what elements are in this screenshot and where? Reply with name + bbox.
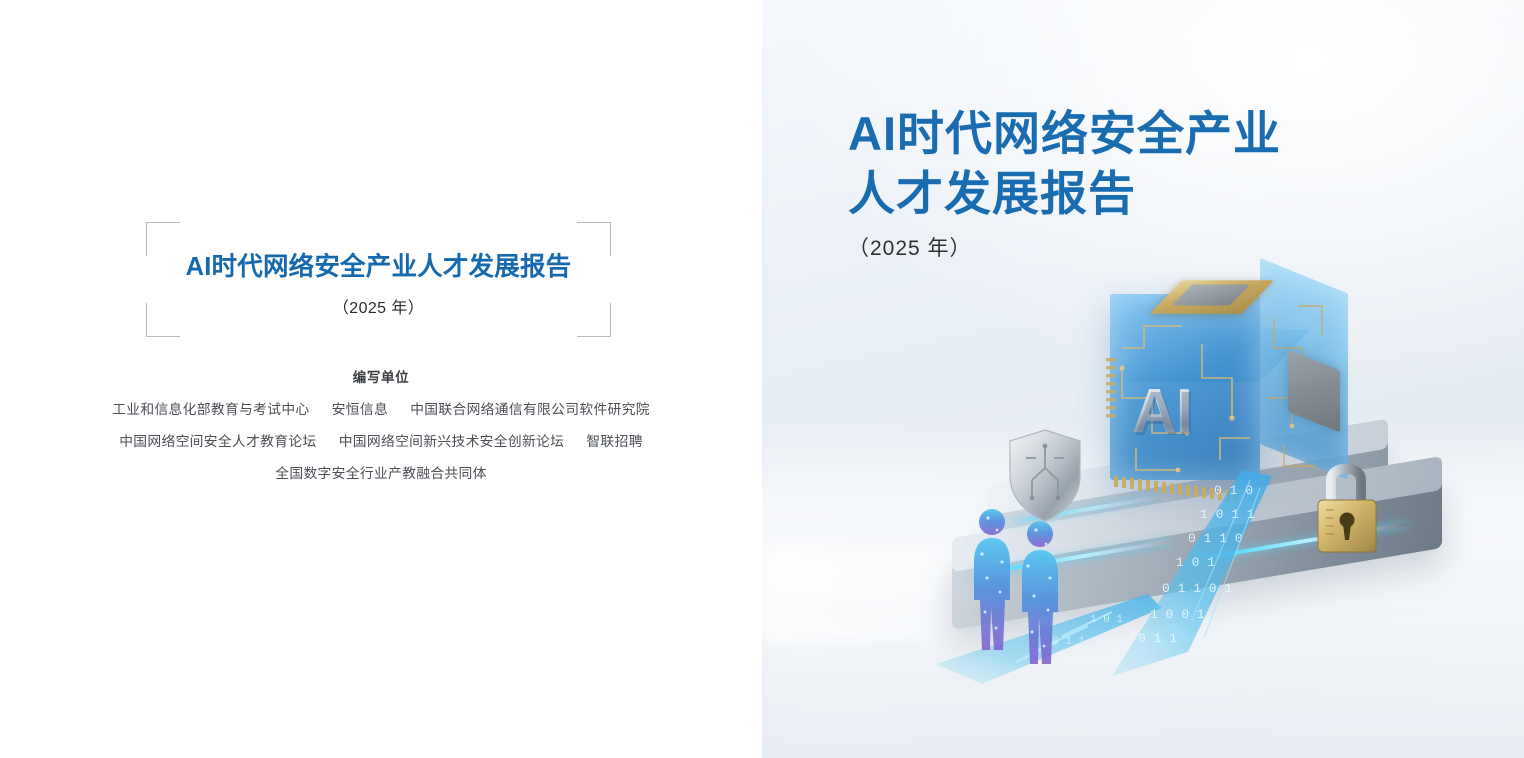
authoring-unit: 中国网络空间新兴技术安全创新论坛 xyxy=(339,435,565,449)
ai-letter-mark: AI xyxy=(1132,376,1192,447)
people-figures xyxy=(958,500,1088,690)
left-page-subtitle: （2025 年） xyxy=(146,294,611,318)
authoring-units-block: 编写单位 工业和信息化部教育与考试中心 安恒信息 中国联合网络通信有限公司软件研… xyxy=(60,366,702,480)
authoring-units-line: 中国网络空间安全人才教育论坛 中国网络空间新兴技术安全创新论坛 智联招聘 xyxy=(60,435,702,449)
svg-text:0 1 0: 0 1 0 xyxy=(1214,483,1253,498)
authoring-unit: 智联招聘 xyxy=(586,435,642,449)
cover-title: AI时代网络安全产业 人才发展报告 xyxy=(848,104,1281,224)
cover-title-line-2: 人才发展报告 xyxy=(848,164,1281,224)
corner-bracket-top-right xyxy=(577,222,611,256)
authoring-units-line: 全国数字安全行业产教融合共同体 xyxy=(60,467,702,481)
authoring-unit: 工业和信息化部教育与考试中心 xyxy=(112,403,309,417)
svg-text:0 1 1: 0 1 1 xyxy=(1138,631,1177,646)
svg-text:0 1 1 0: 0 1 1 0 xyxy=(1188,531,1243,546)
cover-title-line-1: AI时代网络安全产业 xyxy=(848,104,1281,164)
authoring-unit: 全国数字安全行业产教融合共同体 xyxy=(275,467,486,481)
authoring-unit: 安恒信息 xyxy=(332,403,388,417)
svg-text:1 0 1: 1 0 1 xyxy=(1176,555,1215,570)
authoring-units-line: 工业和信息化部教育与考试中心 安恒信息 中国联合网络通信有限公司软件研究院 xyxy=(60,403,702,417)
report-cover-spread: AI时代网络安全产业人才发展报告 （2025 年） 编写单位 工业和信息化部教育… xyxy=(0,0,1524,758)
left-page: AI时代网络安全产业人才发展报告 （2025 年） 编写单位 工业和信息化部教育… xyxy=(0,0,762,758)
padlock-icon xyxy=(1307,452,1385,562)
cover-subtitle: （2025 年） xyxy=(848,232,972,262)
authoring-units-heading: 编写单位 xyxy=(60,366,702,386)
title-frame: AI时代网络安全产业人才发展报告 （2025 年） xyxy=(146,222,611,337)
svg-text:1 0 1 1: 1 0 1 1 xyxy=(1200,507,1255,522)
right-page: AI时代网络安全产业 人才发展报告 （2025 年） xyxy=(762,0,1524,758)
authoring-unit: 中国联合网络通信有限公司软件研究院 xyxy=(410,403,650,417)
authoring-unit: 中国网络空间安全人才教育论坛 xyxy=(119,435,316,449)
left-page-title: AI时代网络安全产业人才发展报告 xyxy=(146,252,611,284)
binary-data-stream: 0 1 0 1 0 1 1 0 1 1 0 1 0 1 0 1 1 0 1 1 … xyxy=(1092,470,1272,700)
corner-bracket-top-left xyxy=(146,222,180,256)
